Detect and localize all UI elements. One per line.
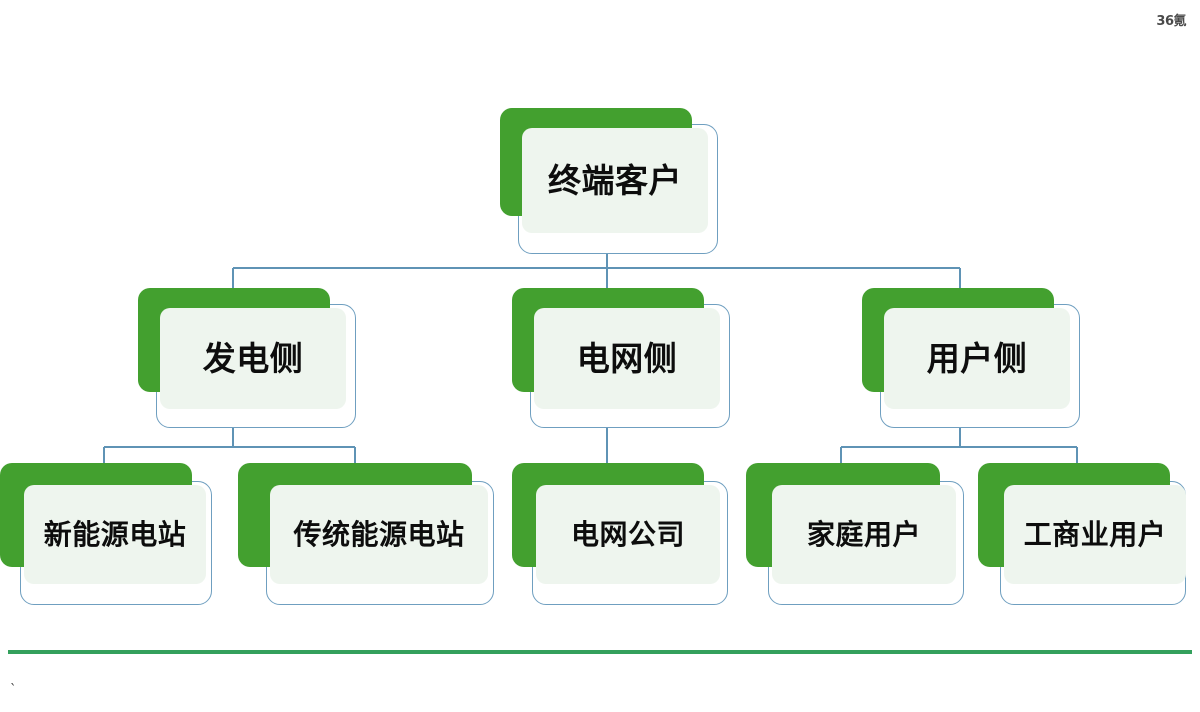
node-terminal-customer[interactable]: 终端客户 bbox=[500, 108, 720, 254]
diagram-canvas: 终端客户 发电侧 电网侧 用户侧 新能源电站 传统能源电站 bbox=[0, 0, 1200, 712]
node-grid-side[interactable]: 电网侧 bbox=[512, 288, 732, 428]
node-label: 新能源电站 bbox=[44, 521, 187, 549]
footer-mark: ` bbox=[10, 683, 17, 698]
node-label: 发电侧 bbox=[203, 342, 304, 375]
node-user-side[interactable]: 用户侧 bbox=[862, 288, 1082, 428]
node-card: 发电侧 bbox=[160, 308, 346, 409]
node-label: 家庭用户 bbox=[807, 521, 921, 549]
node-card: 传统能源电站 bbox=[270, 485, 488, 584]
node-label: 终端客户 bbox=[548, 164, 682, 197]
node-traditional-energy-station[interactable]: 传统能源电站 bbox=[238, 463, 500, 605]
node-grid-company[interactable]: 电网公司 bbox=[512, 463, 734, 605]
node-new-energy-station[interactable]: 新能源电站 bbox=[0, 463, 224, 605]
node-commercial-industrial-user[interactable]: 工商业用户 bbox=[978, 463, 1200, 605]
node-card: 工商业用户 bbox=[1004, 485, 1186, 584]
node-card: 家庭用户 bbox=[772, 485, 956, 584]
node-label: 电网公司 bbox=[571, 521, 685, 549]
node-household-user[interactable]: 家庭用户 bbox=[746, 463, 968, 605]
node-label: 电网侧 bbox=[577, 342, 678, 375]
node-label: 工商业用户 bbox=[1024, 521, 1167, 549]
bottom-divider bbox=[8, 650, 1192, 654]
node-card: 新能源电站 bbox=[24, 485, 206, 584]
node-card: 用户侧 bbox=[884, 308, 1070, 409]
node-generation-side[interactable]: 发电侧 bbox=[138, 288, 358, 428]
node-card: 电网侧 bbox=[534, 308, 720, 409]
node-label: 传统能源电站 bbox=[293, 521, 464, 549]
node-card: 电网公司 bbox=[536, 485, 720, 584]
node-label: 用户侧 bbox=[927, 342, 1028, 375]
watermark-36kr: 36氪 bbox=[1156, 10, 1186, 29]
node-card: 终端客户 bbox=[522, 128, 708, 233]
